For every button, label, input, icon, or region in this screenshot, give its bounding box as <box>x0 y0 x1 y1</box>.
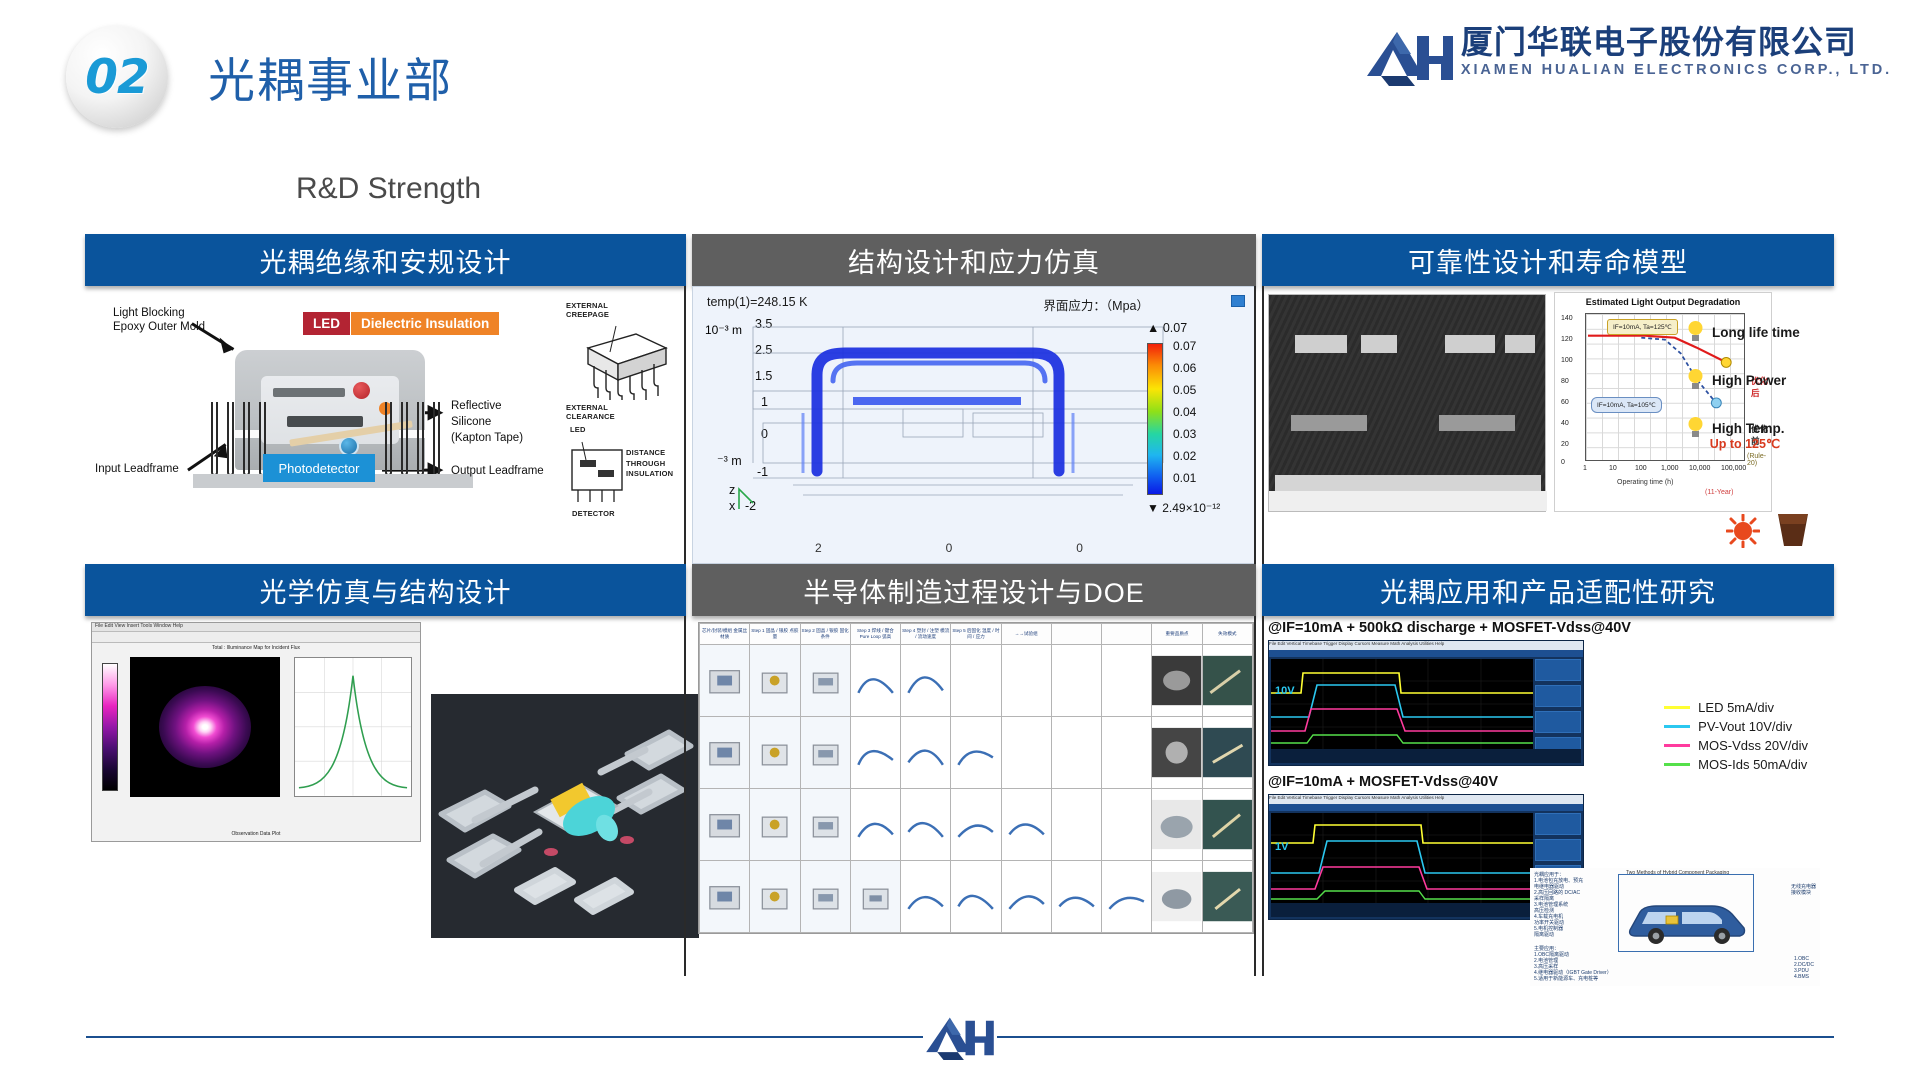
car-right-note: 无线充电器 接收模块 <box>1791 884 1816 896</box>
page-title: 光耦事业部 <box>208 42 453 111</box>
scope-menubar[interactable]: File Edit Vertical Timebase Trigger Disp… <box>1269 641 1583 650</box>
leadframe-bar-bottom <box>287 416 363 427</box>
doe-table: 芯片/封装/模组 金属丝材质 Step 1 固晶 / 银胶 点胶量 Step 2… <box>699 623 1253 933</box>
cell-failure-image <box>1202 860 1252 932</box>
scope-marker-2: 1V <box>1275 841 1288 853</box>
car-bottom-note: 主要应用： 1.OBC隔离驱动 2.电池管理 3.高压采样 4.继电器驱动（IG… <box>1534 946 1612 982</box>
col-header: 芯片/封装/模组 金属丝材质 <box>700 624 750 645</box>
cell-curve <box>850 788 900 860</box>
package-safety-diagrams: EXTERNAL CREEPAGE <box>566 296 678 521</box>
panel-divider-4 <box>684 616 686 976</box>
cell-curve <box>850 716 900 788</box>
cell-empty <box>1051 788 1101 860</box>
panel-divider-2 <box>1254 286 1256 564</box>
panel-body-optical: File Edit View Insert Tools Window Help … <box>85 616 686 996</box>
stress-label: 界面应力：（Mpa） <box>1043 295 1149 314</box>
table-row <box>700 788 1253 860</box>
subtitle: R&D Strength <box>296 172 481 206</box>
cell-die-icon <box>800 644 850 716</box>
col-header: →→试验组 <box>1001 624 1051 645</box>
cell-empty <box>1051 644 1101 716</box>
sem-cross-section-image <box>1268 294 1546 512</box>
plot-top-labels: temp(1)=248.15 K 界面应力：（Mpa） <box>707 295 1241 314</box>
scope-toolbar[interactable] <box>1269 804 1583 811</box>
panel-body-application: @IF=10mA + 500kΩ discharge + MOSFET-Vdss… <box>1262 616 1834 996</box>
panel-reliability-lifetime: 可靠性设计和寿命模型 Estimated Light Output Degrad… <box>1259 234 1837 564</box>
cell-empty <box>1051 716 1101 788</box>
dip-package-3d-icon <box>572 322 676 400</box>
chocolate-melt-icon <box>1772 510 1814 550</box>
badge-led: LED <box>303 312 350 335</box>
photodetector-die <box>339 436 359 456</box>
illuminance-blob <box>159 686 251 768</box>
badge-dielectric-insulation: Dielectric Insulation <box>351 312 499 335</box>
cell-sem-image <box>1152 716 1202 788</box>
colorbar-min: ▼ 2.49×10⁻¹² <box>1147 501 1220 515</box>
cell-empty <box>1001 644 1051 716</box>
panel-body-reliability: Estimated Light Output Degradation 140 1… <box>1262 286 1834 564</box>
hualian-logo-icon <box>1367 30 1453 86</box>
observation-caption: Observation Data Plot <box>92 829 420 837</box>
cell-die-icon <box>700 644 750 716</box>
colorbar-tick-3: 0.04 <box>1173 405 1196 419</box>
waveforms-1 <box>1271 659 1533 749</box>
cell-curve <box>901 860 951 932</box>
cell-curve <box>1102 860 1152 932</box>
waveform-legend: LED 5mA/div PV-Vout 10V/div MOS-Vdss 20V… <box>1664 700 1808 776</box>
label-output-leadframe: Output Leadframe <box>451 464 544 478</box>
legend-label: LED 5mA/div <box>1698 700 1774 715</box>
panel-title-insulation: 光耦绝缘和安规设计 <box>85 234 686 286</box>
col-header: Step 4 塑封 / 注塑 模流 / 流动速度 <box>901 624 951 645</box>
company-logo: 厦门华联电子股份有限公司 XIAMEN HUALIAN ELECTRONICS … <box>1367 26 1892 86</box>
cell-die-icon <box>700 860 750 932</box>
cell-curve <box>901 716 951 788</box>
col-header: Step 3 焊线 / 键合 Pure Loop 弧高 <box>850 624 900 645</box>
legend-item: MOS-Vdss 20V/div <box>1664 738 1808 753</box>
panel-title-application: 光耦应用和产品适配性研究 <box>1262 564 1834 616</box>
legend-label: MOS-Ids 50mA/div <box>1698 757 1807 772</box>
lightbulb-icon <box>1688 416 1703 440</box>
callout-original: IF=10mA, Ta=105℃ <box>1591 397 1662 413</box>
colorbar-tick-5: 0.02 <box>1173 449 1196 463</box>
label-input-leadframe: Input Leadframe <box>95 462 179 476</box>
panel-body-doe: 芯片/封装/模组 金属丝材质 Step 1 固晶 / 银胶 点胶量 Step 2… <box>692 616 1256 996</box>
scope-waveform-screen-1: 10V <box>1271 659 1533 749</box>
waveforms-2 <box>1271 813 1533 903</box>
temperature-rating: Up to 125℃ <box>1710 436 1780 451</box>
table-header-row: 芯片/封装/模组 金属丝材质 Step 1 固晶 / 银胶 点胶量 Step 2… <box>700 624 1253 645</box>
label-external-creepage: EXTERNAL CREEPAGE <box>566 302 609 319</box>
cell-die-icon <box>800 860 850 932</box>
scope-status-bar-1 <box>1271 749 1581 763</box>
panel-title-structural: 结构设计和应力仿真 <box>692 234 1256 286</box>
col-header: Step 5 后固化 温度 / 时间 / 应力 <box>951 624 1001 645</box>
cell-curve <box>1001 788 1051 860</box>
observation-plot <box>294 657 412 797</box>
col-header <box>1051 624 1101 645</box>
legend-item: PV-Vout 10V/div <box>1664 719 1808 734</box>
colorbar-tick-0: 0.07 <box>1173 339 1196 353</box>
cell-die-icon <box>800 788 850 860</box>
logo-company-cn: 厦门华联电子股份有限公司 <box>1461 26 1892 60</box>
col-header: Step 2 固晶 / 银胶 固化条件 <box>800 624 850 645</box>
plot-x-ticks: 2 0 0 <box>753 541 1145 555</box>
legend-item: LED 5mA/div <box>1664 700 1808 715</box>
illuminance-map <box>130 657 280 797</box>
panel-application-research: 光耦应用和产品适配性研究 @IF=10mA + 500kΩ discharge … <box>1259 564 1837 996</box>
cell-failure-image <box>1202 716 1252 788</box>
cell-die-icon <box>750 716 800 788</box>
chart-title: Estimated Light Output Degradation <box>1555 297 1771 307</box>
cell-empty <box>1102 644 1152 716</box>
doe-matrix-table: 芯片/封装/模组 金属丝材质 Step 1 固晶 / 银胶 点胶量 Step 2… <box>698 622 1254 934</box>
feature-label: High Power <box>1712 373 1786 388</box>
panel-divider-1 <box>684 286 686 564</box>
automotive-application-diagram: 光耦应用于： 1.电池包充放电、预充 电继电器驱动 2.高压回路的 DC/AC … <box>1530 868 1820 986</box>
label-mini-detector: DETECTOR <box>572 510 615 519</box>
cell-curve <box>850 644 900 716</box>
hualian-logo-footer-icon <box>925 1016 995 1060</box>
table-row <box>700 716 1253 788</box>
led-die <box>353 382 370 399</box>
legend-label: MOS-Vdss 20V/div <box>1698 738 1808 753</box>
car-legend-note: 1.OBC 2.DC/DC 3.PDU 4.BMS <box>1794 956 1814 980</box>
optocoupler-cross-section-figure: Light Blocking Epoxy Outer Mold Input Le… <box>85 286 686 564</box>
temp-label: temp(1)=248.15 K <box>707 295 807 314</box>
section-number: 02 <box>85 50 148 105</box>
section-number-badge: 02 <box>66 26 168 128</box>
sun-icon <box>1726 514 1760 548</box>
cell-sem-image <box>1152 860 1202 932</box>
chip-cavity <box>261 376 399 444</box>
legend-swatch-pv-vout <box>1664 725 1690 728</box>
window-caption: Total : Illuminance Map for Incident Flu… <box>92 643 420 651</box>
scope-side-panel-1[interactable] <box>1535 659 1581 749</box>
legend-swatch-mos-ids <box>1664 763 1690 766</box>
app-toolbar[interactable] <box>92 632 420 643</box>
colorbar-gradient <box>1147 343 1163 495</box>
panel-title-doe: 半导体制造过程设计与DOE <box>692 564 1256 616</box>
scope-waveform-screen-2: 1V <box>1271 813 1533 903</box>
scope-caption-2: @IF=10mA + MOSFET-Vdss@40V <box>1268 774 1498 790</box>
feature-item: Long life time <box>1688 320 1828 344</box>
scope-marker-1: 10V <box>1275 685 1295 697</box>
slide-header: 02 光耦事业部 厦门华联电子股份有限公司 XIAMEN HUALIAN ELE… <box>0 0 1920 150</box>
stress-colorbar: ▲ 0.07 0.07 0.06 0.05 0.04 0.03 0.02 0.0… <box>1147 321 1233 521</box>
cell-curve <box>1051 860 1101 932</box>
colorbar-tick-2: 0.05 <box>1173 383 1196 397</box>
scope-menubar[interactable]: File Edit Vertical Timebase Trigger Disp… <box>1269 795 1583 804</box>
cell-die-icon <box>700 788 750 860</box>
table-row <box>700 644 1253 716</box>
intensity-curve <box>295 658 411 796</box>
panel-divider-5 <box>1254 616 1256 976</box>
panel-body-insulation: Light Blocking Epoxy Outer Mold Input Le… <box>85 286 686 564</box>
colorbar-tick-1: 0.06 <box>1173 361 1196 375</box>
lightbulb-icon <box>1688 368 1703 392</box>
cell-die-icon <box>750 860 800 932</box>
legend-item: MOS-Ids 50mA/div <box>1664 757 1808 772</box>
car-highlight-box <box>1618 874 1754 952</box>
legend-label: PV-Vout 10V/div <box>1698 719 1792 734</box>
scope-toolbar[interactable] <box>1269 650 1583 657</box>
panel-structural-stress: 结构设计和应力仿真 temp(1)=248.15 K 界面应力：（Mpa） 10… <box>689 234 1259 564</box>
cell-failure-image <box>1202 788 1252 860</box>
panel-title-reliability: 可靠性设计和寿命模型 <box>1262 234 1834 286</box>
col-header: 失效模式 <box>1202 624 1252 645</box>
panel-semiconductor-doe: 半导体制造过程设计与DOE 芯片/封装/模组 金属丝材质 Step 1 固晶 /… <box>689 564 1259 996</box>
comsol-stress-plot: temp(1)=248.15 K 界面应力：（Mpa） 10⁻³ m 3.5 2… <box>692 286 1256 564</box>
app-menubar[interactable]: File Edit View Insert Tools Window Help <box>92 623 420 632</box>
cell-curve <box>1001 860 1051 932</box>
leadframe-bar-top <box>273 388 345 397</box>
callout-optimized: IF=10mA, Ta=125℃ <box>1607 319 1678 335</box>
xtick-1: 0 <box>946 541 953 555</box>
feature-label: High Temp. <box>1712 421 1785 436</box>
cell-empty <box>1102 716 1152 788</box>
feature-label: Long life time <box>1712 325 1800 340</box>
cell-curve <box>951 788 1001 860</box>
photodetector-label-box: Photodetector <box>263 454 375 482</box>
col-header: 重要品质点 <box>1152 624 1202 645</box>
oscilloscope-capture-1: File Edit Vertical Timebase Trigger Disp… <box>1268 640 1584 766</box>
panel-divider-3 <box>1262 286 1264 564</box>
cell-sem-image <box>1152 788 1202 860</box>
panel-grid: 光耦绝缘和安规设计 Light Blocking <box>82 234 1837 996</box>
xtick-0: 2 <box>815 541 822 555</box>
cell-curve <box>901 644 951 716</box>
car-left-note: 光耦应用于： 1.电池包充放电、预充 电继电器驱动 2.高压回路的 DC/AC … <box>1534 872 1583 938</box>
cell-curve <box>901 788 951 860</box>
cell-curve <box>951 860 1001 932</box>
colorbar-tick-4: 0.03 <box>1173 427 1196 441</box>
cell-failure-image <box>1202 644 1252 716</box>
optical-simulation-window: File Edit View Insert Tools Window Help … <box>91 622 421 842</box>
label-mini-led: LED <box>570 426 586 435</box>
stress-wireframe-model <box>733 313 1183 518</box>
label-light-blocking: Light Blocking Epoxy Outer Mold <box>113 306 205 335</box>
dti-package-icon <box>568 436 626 510</box>
logo-company-en: XIAMEN HUALIAN ELECTRONICS CORP., LTD. <box>1461 62 1892 78</box>
cell-die-icon <box>750 788 800 860</box>
lightbulb-icon <box>1688 320 1703 344</box>
illuminance-colorbar <box>102 663 118 791</box>
colorbar-max: ▲ 0.07 <box>1147 321 1187 335</box>
chart-xlabel: Operating time (h) <box>1617 479 1673 486</box>
3d-leadframe-render <box>431 694 699 938</box>
label-distance-through-insulation: DISTANCE THROUGH INSULATION <box>626 448 673 480</box>
cell-die-icon <box>750 644 800 716</box>
label-external-clearance: EXTERNAL CLEARANCE <box>566 404 615 421</box>
note-year: (11-Year) <box>1705 489 1733 496</box>
footer-logo <box>923 1014 997 1062</box>
cell-curve <box>951 716 1001 788</box>
legend-swatch-mos-vdss <box>1664 744 1690 747</box>
cell-die-icon <box>800 716 850 788</box>
feature-item: High Power <box>1688 368 1828 392</box>
col-header <box>1102 624 1152 645</box>
panel-optical-simulation: 光学仿真与结构设计 File Edit View Insert Tools Wi… <box>82 564 689 996</box>
colorbar-tick-6: 0.01 <box>1173 471 1196 485</box>
table-row <box>700 860 1253 932</box>
xtick-2: 0 <box>1076 541 1083 555</box>
col-header: Step 1 固晶 / 银胶 点胶量 <box>750 624 800 645</box>
cell-empty <box>1102 788 1152 860</box>
panel-divider-6 <box>1262 616 1264 976</box>
cell-empty <box>1001 716 1051 788</box>
cell-empty <box>951 644 1001 716</box>
cell-die-icon <box>700 716 750 788</box>
cell-die-icon <box>850 860 900 932</box>
panel-title-optical: 光学仿真与结构设计 <box>85 564 686 616</box>
label-reflective-silicone: Reflective Silicone (Kapton Tape) <box>451 398 523 446</box>
cell-sem-image <box>1152 644 1202 716</box>
legend-swatch-led <box>1664 706 1690 709</box>
panel-insulation-design: 光耦绝缘和安规设计 Light Blocking <box>82 234 689 564</box>
scope-caption-1: @IF=10mA + 500kΩ discharge + MOSFET-Vdss… <box>1268 620 1631 636</box>
leadframe-model <box>431 694 699 938</box>
panel-body-structural: temp(1)=248.15 K 界面应力：（Mpa） 10⁻³ m 3.5 2… <box>692 286 1256 564</box>
